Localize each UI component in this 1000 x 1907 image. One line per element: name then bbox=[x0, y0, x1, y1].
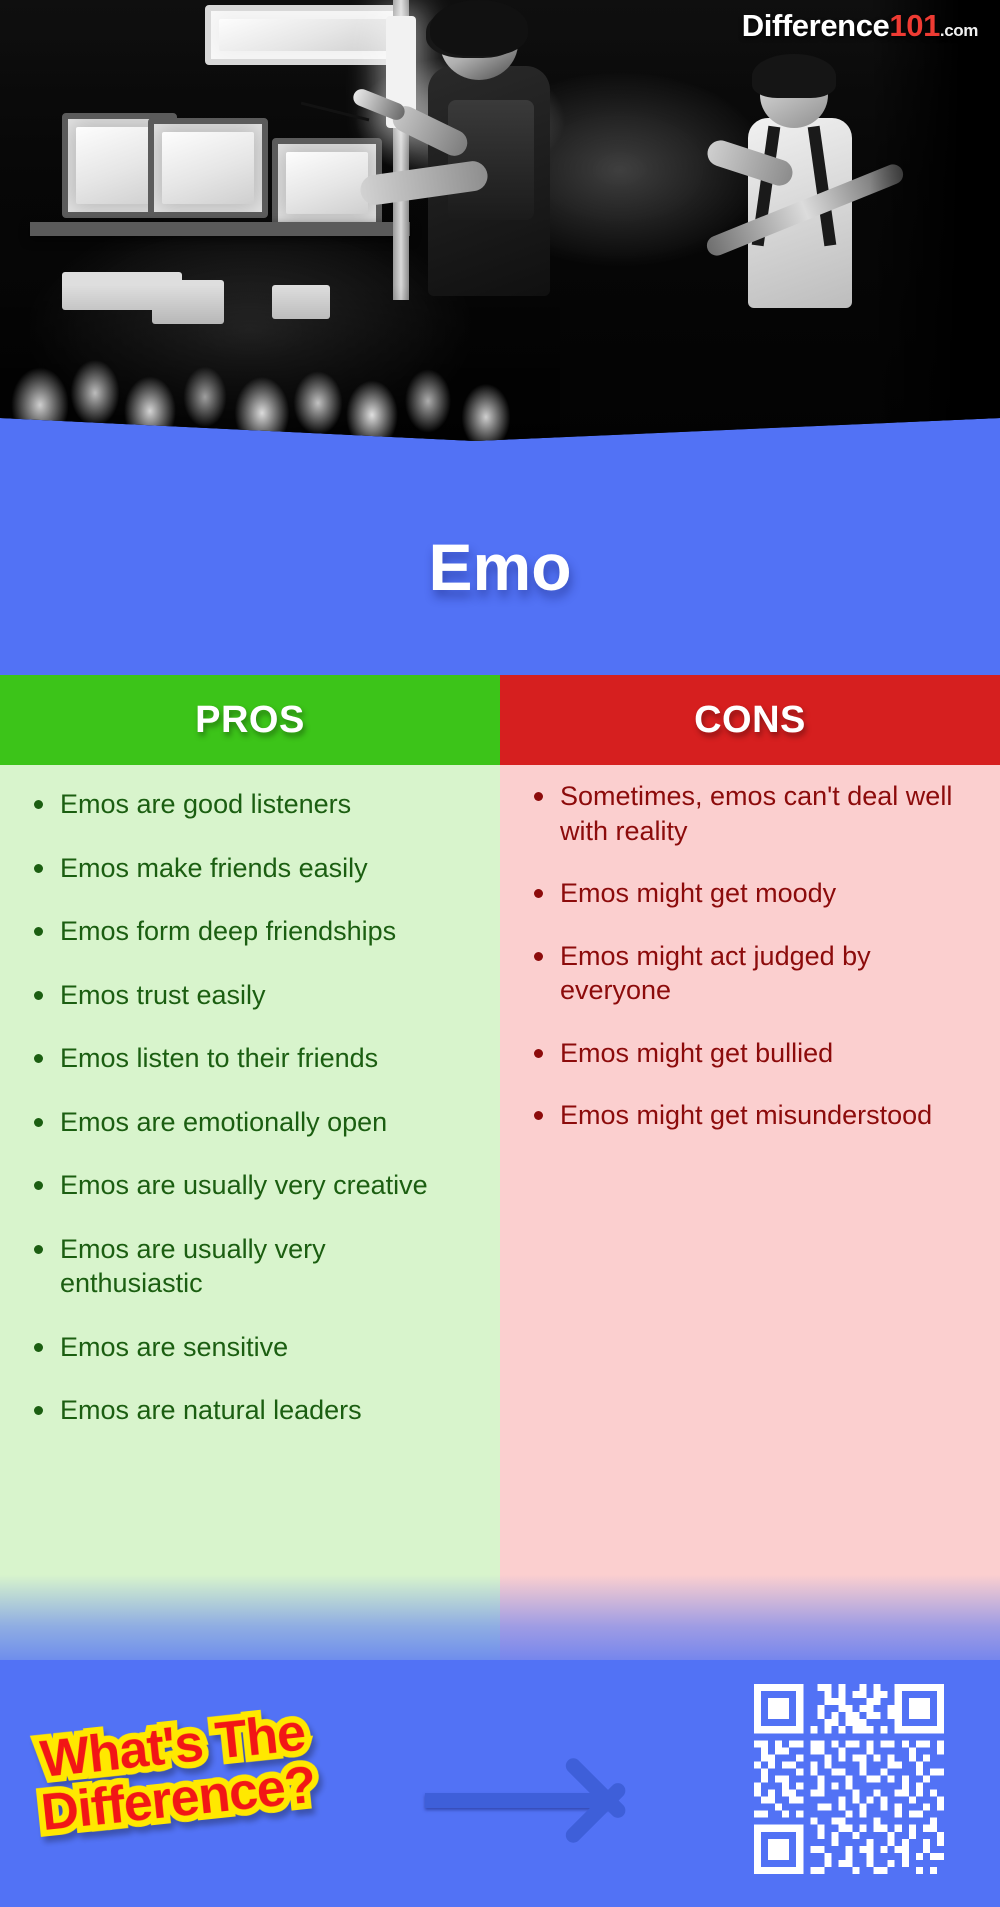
qr-code-icon[interactable] bbox=[747, 1677, 951, 1881]
pros-list: Emos are good listeners Emos make friend… bbox=[26, 787, 474, 1428]
list-item: Emos trust easily bbox=[26, 978, 474, 1013]
arrow-right-icon bbox=[425, 1745, 660, 1855]
list-item: Emos are usually very creative bbox=[26, 1168, 474, 1203]
list-item: Emos might get moody bbox=[526, 876, 974, 911]
list-item: Emos are usually very enthusiastic bbox=[26, 1232, 474, 1301]
cons-header: CONS bbox=[500, 675, 1000, 765]
stage-monitor-top bbox=[205, 5, 405, 65]
list-item: Emos listen to their friends bbox=[26, 1041, 474, 1076]
cons-list: Sometimes, emos can't deal well with rea… bbox=[526, 779, 974, 1133]
cons-header-label: CONS bbox=[694, 699, 806, 742]
list-item: Emos make friends easily bbox=[26, 851, 474, 886]
arrow-shaft bbox=[425, 1793, 610, 1808]
pros-header: PROS bbox=[0, 675, 500, 765]
cons-column: CONS Sometimes, emos can't deal well wit… bbox=[500, 675, 1000, 1660]
page-title: Emo bbox=[0, 441, 1000, 600]
list-item: Emos are natural leaders bbox=[26, 1393, 474, 1428]
stage-monitor-center bbox=[148, 118, 268, 218]
hero-right-vignette bbox=[870, 0, 1000, 445]
list-item: Emos are good listeners bbox=[26, 787, 474, 822]
monitor-shelf bbox=[30, 222, 410, 236]
list-item: Emos form deep friendships bbox=[26, 914, 474, 949]
pros-column: PROS Emos are good listeners Emos make f… bbox=[0, 675, 500, 1660]
pros-header-label: PROS bbox=[195, 699, 305, 742]
logo-number: 101 bbox=[889, 8, 940, 43]
cons-body: Sometimes, emos can't deal well with rea… bbox=[500, 765, 1000, 1660]
pros-cons-table: PROS Emos are good listeners Emos make f… bbox=[0, 675, 1000, 1660]
logo-word: Difference bbox=[742, 8, 890, 43]
infographic-page: Difference101.com Emo PROS Emos are good… bbox=[0, 0, 1000, 1907]
guitarist-hair bbox=[752, 54, 836, 98]
title-band: Emo bbox=[0, 441, 1000, 675]
singer-hair bbox=[430, 0, 528, 56]
list-item: Emos might get bullied bbox=[526, 1036, 974, 1071]
list-item: Emos are emotionally open bbox=[26, 1105, 474, 1140]
list-item: Sometimes, emos can't deal well with rea… bbox=[526, 779, 974, 848]
site-logo[interactable]: Difference101.com bbox=[742, 8, 978, 44]
list-item: Emos might act judged by everyone bbox=[526, 939, 974, 1008]
list-item: Emos might get misunderstood bbox=[526, 1098, 974, 1133]
pros-body: Emos are good listeners Emos make friend… bbox=[0, 765, 500, 1660]
list-item: Emos are sensitive bbox=[26, 1330, 474, 1365]
singer-shirt bbox=[448, 100, 534, 220]
logo-tld: .com bbox=[940, 21, 978, 40]
hero-photo-container bbox=[0, 0, 1000, 445]
crowd-silhouette bbox=[0, 285, 560, 445]
